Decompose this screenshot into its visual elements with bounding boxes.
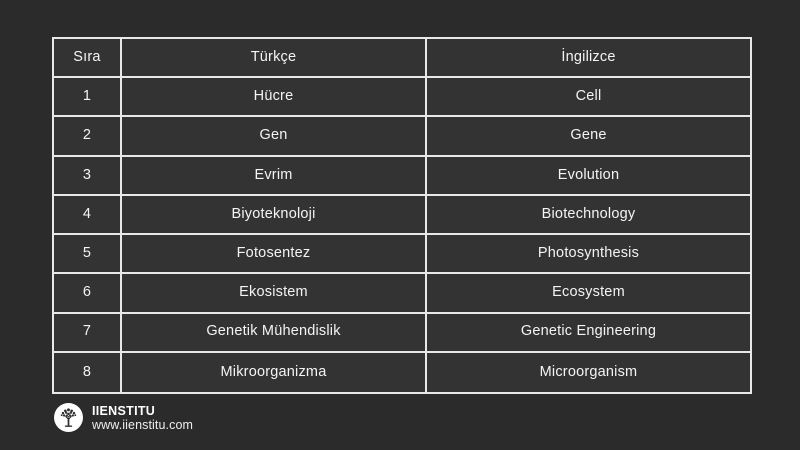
table-row: 2 Gen Gene xyxy=(54,117,750,156)
cell-sira: 6 xyxy=(54,274,122,313)
cell-sira: 4 xyxy=(54,196,122,235)
footer-brand: IIENSTITU www.iienstitu.com xyxy=(54,403,193,432)
table-row: 8 Mikroorganizma Microorganism xyxy=(54,353,750,392)
cell-sira: 7 xyxy=(54,314,122,353)
cell-turkce: Ekosistem xyxy=(122,274,427,313)
brand-name: IIENSTITU xyxy=(92,404,193,418)
column-header-ingilizce: İngilizce xyxy=(427,39,750,78)
cell-sira: 3 xyxy=(54,157,122,196)
column-header-sira: Sıra xyxy=(54,39,122,78)
cell-ingilizce: Ecosystem xyxy=(427,274,750,313)
brand-url: www.iienstitu.com xyxy=(92,418,193,432)
cell-sira: 2 xyxy=(54,117,122,156)
cell-sira: 8 xyxy=(54,353,122,392)
term-table-container: Sıra Türkçe İngilizce 1 Hücre Cell 2 Gen… xyxy=(52,37,748,394)
cell-sira: 5 xyxy=(54,235,122,274)
table-row: 7 Genetik Mühendislik Genetic Engineerin… xyxy=(54,314,750,353)
table-row: 5 Fotosentez Photosynthesis xyxy=(54,235,750,274)
turkish-english-term-table: Sıra Türkçe İngilizce 1 Hücre Cell 2 Gen… xyxy=(52,37,752,394)
cell-ingilizce: Genetic Engineering xyxy=(427,314,750,353)
cell-sira: 1 xyxy=(54,78,122,117)
cell-turkce: Biyoteknoloji xyxy=(122,196,427,235)
cell-turkce: Gen xyxy=(122,117,427,156)
cell-turkce: Hücre xyxy=(122,78,427,117)
cell-ingilizce: Biotechnology xyxy=(427,196,750,235)
cell-ingilizce: Cell xyxy=(427,78,750,117)
table-row: 6 Ekosistem Ecosystem xyxy=(54,274,750,313)
table-header-row: Sıra Türkçe İngilizce xyxy=(54,39,750,78)
cell-turkce: Fotosentez xyxy=(122,235,427,274)
table-row: 4 Biyoteknoloji Biotechnology xyxy=(54,196,750,235)
cell-turkce: Mikroorganizma xyxy=(122,353,427,392)
tree-in-circle-icon xyxy=(54,403,83,432)
column-header-turkce: Türkçe xyxy=(122,39,427,78)
brand-text-block: IIENSTITU www.iienstitu.com xyxy=(92,404,193,432)
cell-ingilizce: Evolution xyxy=(427,157,750,196)
cell-ingilizce: Microorganism xyxy=(427,353,750,392)
cell-ingilizce: Gene xyxy=(427,117,750,156)
table-row: 1 Hücre Cell xyxy=(54,78,750,117)
cell-ingilizce: Photosynthesis xyxy=(427,235,750,274)
cell-turkce: Genetik Mühendislik xyxy=(122,314,427,353)
table-row: 3 Evrim Evolution xyxy=(54,157,750,196)
cell-turkce: Evrim xyxy=(122,157,427,196)
